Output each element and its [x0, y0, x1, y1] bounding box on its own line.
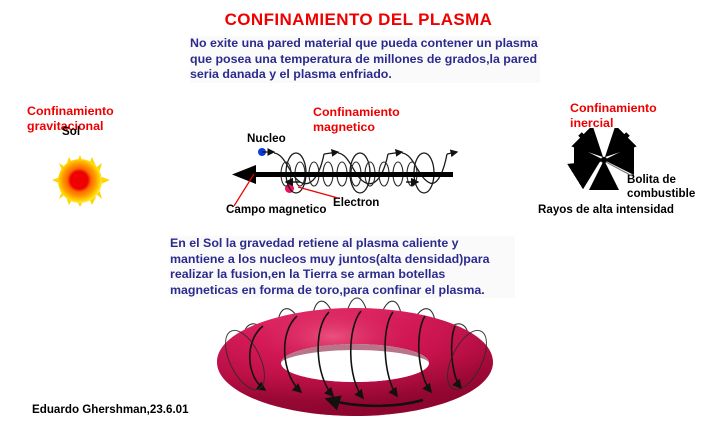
torus-graphic	[205, 296, 505, 426]
middle-paragraph: En el Sol la gravedad retiene al plasma …	[170, 236, 515, 298]
converging-beams-icon	[566, 128, 646, 205]
intro-paragraph: No exite una pared material que pueda co…	[190, 36, 540, 83]
label-leader-lines	[226, 170, 356, 215]
gravitational-section-heading: Confinamiento gravitacional	[27, 104, 147, 133]
sun-label: Sol	[62, 125, 80, 139]
torus-icon	[205, 296, 505, 431]
sun-icon	[52, 155, 110, 207]
inertial-section-heading: Confinamiento inercial	[570, 101, 690, 130]
plasma-confinement-poster: CONFINAMIENTO DEL PLASMA No exite una pa…	[0, 0, 717, 432]
pellet-leader-line	[606, 162, 632, 176]
sun-graphic	[52, 155, 110, 207]
magnetic-section-heading: Confinamiento magnetico	[313, 105, 433, 134]
author-signature: Eduardo Ghershman,23.6.01	[32, 403, 189, 417]
implosion-graphic	[566, 128, 646, 200]
leader-line-graphic	[226, 170, 356, 210]
page-title: CONFINAMIENTO DEL PLASMA	[0, 10, 717, 30]
high-intensity-beams-label: Rayos de alta intensidad	[538, 203, 674, 217]
